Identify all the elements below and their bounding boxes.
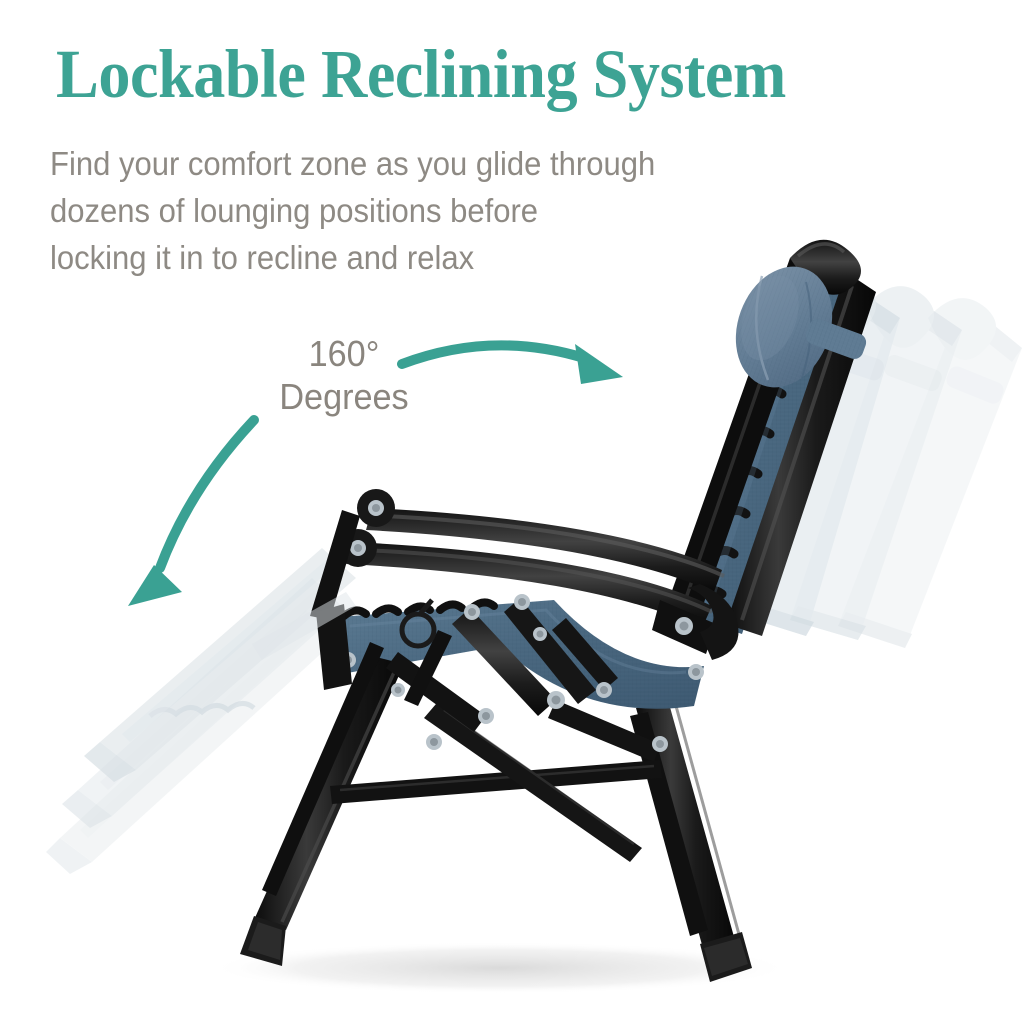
angle-value: 160° bbox=[249, 332, 439, 375]
page-title: Lockable Reclining System bbox=[56, 36, 912, 112]
product-feature-graphic: Lockable Reclining System Find your comf… bbox=[0, 0, 1024, 1024]
angle-unit: Degrees bbox=[249, 375, 439, 418]
subtitle-line-3: locking it in to recline and relax bbox=[50, 234, 764, 281]
page-subtitle: Find your comfort zone as you glide thro… bbox=[50, 140, 764, 281]
subtitle-line-2: dozens of lounging positions before bbox=[50, 187, 764, 234]
angle-callout: 160° Degrees bbox=[249, 332, 439, 418]
subtitle-line-1: Find your comfort zone as you glide thro… bbox=[50, 140, 764, 187]
